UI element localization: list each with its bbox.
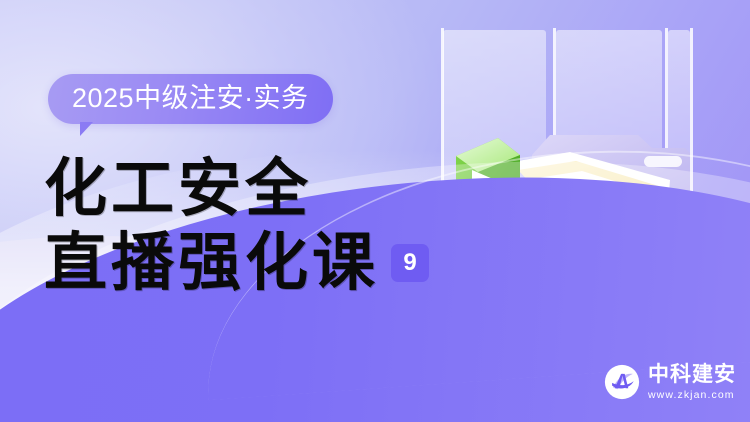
brand-name: 中科建安 <box>648 364 736 385</box>
background-bar-edge-2 <box>553 28 556 328</box>
refresh-arrow-front <box>426 196 700 310</box>
brand-logo: 中科建安 www.zkjan.com <box>604 364 736 401</box>
folder-back <box>532 135 690 215</box>
course-tag-label: 2025中级注安·实务 <box>72 81 309 115</box>
background-bar-edge-3 <box>665 28 668 328</box>
document-sheets <box>512 152 670 268</box>
background-vertical-bar-2 <box>556 30 662 320</box>
zkjan-logo-icon <box>604 364 640 400</box>
bubble-tail <box>80 122 93 136</box>
background-vertical-bar-3 <box>668 30 690 290</box>
headline-line-2: 直播强化课 <box>44 226 379 300</box>
play-triangle-icon <box>472 170 500 200</box>
headline-block: 化工安全 直播强化课 9 <box>44 152 464 300</box>
brand-url: www.zkjan.com <box>648 390 736 401</box>
play-video-cube <box>456 138 520 226</box>
episode-number-badge: 9 <box>391 244 429 282</box>
folder-front <box>438 200 696 310</box>
headline-line-2-row: 直播强化课 9 <box>44 226 464 300</box>
course-promo-banner: 2025中级注安·实务 化工安全 直播强化课 9 中科建安 www.zkjan.… <box>0 0 750 422</box>
background-bar-edge-4 <box>690 28 693 328</box>
brand-logo-text: 中科建安 www.zkjan.com <box>648 364 736 401</box>
refresh-arrow-back <box>444 196 700 298</box>
course-tag: 2025中级注安·实务 <box>48 74 333 124</box>
course-tag-bubble: 2025中级注安·实务 <box>48 74 333 124</box>
headline-line-1: 化工安全 <box>44 154 312 224</box>
headline-line-1-wrap: 化工安全 <box>44 152 464 226</box>
